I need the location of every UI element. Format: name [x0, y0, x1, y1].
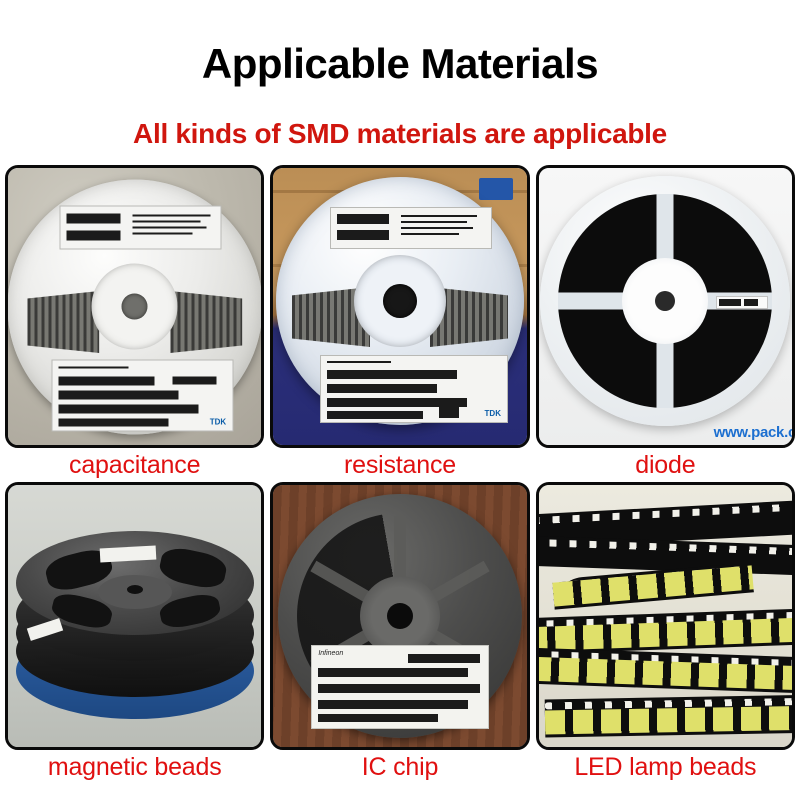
applicable-materials-page: Applicable Materials All kinds of SMD ma…: [0, 0, 800, 800]
infineon-label: Infineon: [311, 645, 489, 729]
reel-hub: [360, 576, 440, 656]
gallery-item-magnetic-beads[interactable]: magnetic beads: [5, 482, 264, 784]
reel-hub: [354, 255, 446, 347]
page-subtitle: All kinds of SMD materials are applicabl…: [0, 118, 800, 150]
watermark-text: www.pack.c: [714, 424, 795, 441]
carrier-tape-left: [27, 291, 99, 353]
reel-hub-hole: [383, 284, 417, 318]
reel-hub-hole: [655, 291, 675, 311]
reel-label-tag: [99, 546, 156, 563]
caption-diode: diode: [536, 448, 795, 482]
caption-ic-chip: IC chip: [270, 750, 529, 784]
caption-led-lamp-beads: LED lamp beads: [536, 750, 795, 784]
reel-label-top: [330, 207, 492, 249]
gallery-item-resistance[interactable]: TDK resistance: [270, 165, 529, 482]
reel-hub-hole: [122, 294, 148, 320]
reel-hub-hole: [387, 603, 413, 629]
reel-hub-hole: [127, 585, 143, 594]
led-lamp-beads-photo[interactable]: [536, 482, 795, 750]
materials-gallery-grid: TDK capacitance: [5, 165, 795, 784]
caption-resistance: resistance: [270, 448, 529, 482]
reel-label-bottom: TDK: [51, 359, 233, 431]
reel-stack: [16, 531, 254, 721]
resistance-photo[interactable]: TDK: [270, 165, 529, 448]
carrier-tape-right: [170, 291, 242, 353]
reel-label-top: [59, 205, 221, 249]
gallery-item-diode[interactable]: www.pack.c diode: [536, 165, 795, 482]
caption-capacitance: capacitance: [5, 448, 264, 482]
tdk-logo: TDK: [210, 417, 226, 426]
diode-photo[interactable]: www.pack.c: [536, 165, 795, 448]
reel-hub: [92, 264, 178, 350]
page-title: Applicable Materials: [0, 40, 800, 88]
infineon-logo: Infineon: [318, 650, 343, 657]
smd-reel: [540, 176, 790, 426]
reel-label-bottom: TDK: [320, 355, 508, 423]
led-carrier-tape: [544, 695, 795, 738]
gallery-item-ic-chip[interactable]: Infineon IC chip: [270, 482, 529, 784]
caption-magnetic-beads: magnetic beads: [5, 750, 264, 784]
capacitance-photo[interactable]: TDK: [5, 165, 264, 448]
led-beads: [545, 706, 795, 735]
gallery-item-led-lamp-beads[interactable]: LED lamp beads: [536, 482, 795, 784]
smd-reel: TDK: [276, 177, 524, 425]
ic-chip-photo[interactable]: Infineon: [270, 482, 529, 750]
smd-reel: TDK: [7, 179, 262, 434]
reel-hub: [622, 258, 708, 344]
reel-barcode-label: [716, 296, 768, 309]
box-sticker: [479, 178, 513, 200]
tdk-logo: TDK: [485, 409, 501, 418]
magnetic-beads-photo[interactable]: [5, 482, 264, 750]
gallery-item-capacitance[interactable]: TDK capacitance: [5, 165, 264, 482]
